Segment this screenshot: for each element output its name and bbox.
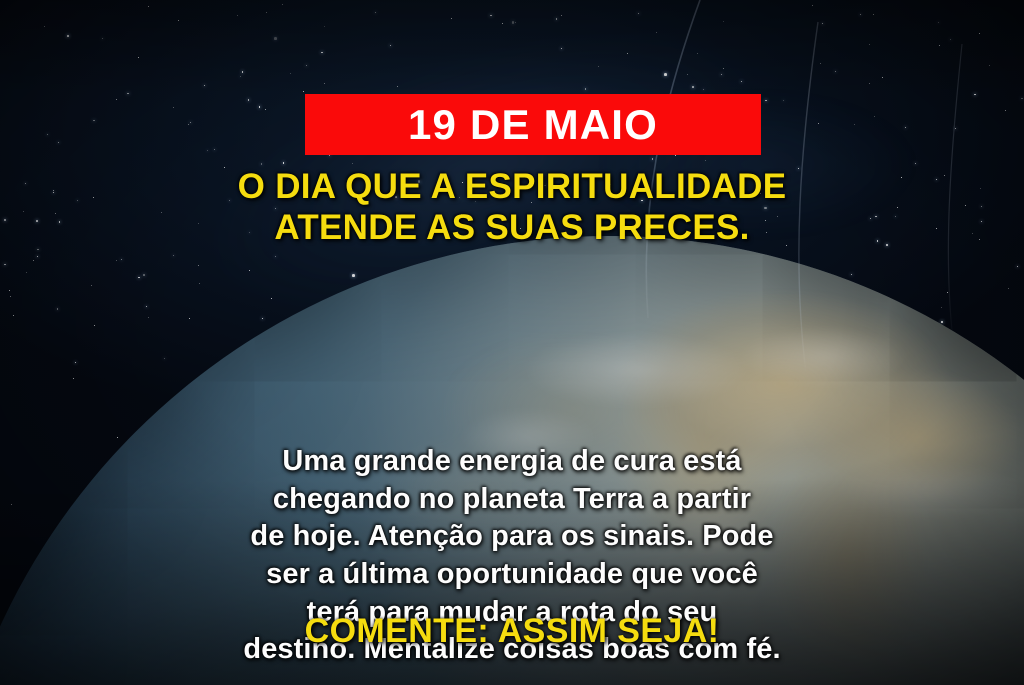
social-media-poster: 19 DE MAIO O DIA QUE A ESPIRITUALIDADE A… (0, 0, 1024, 685)
body-line-3: de hoje. Atenção para os sinais. Pode (0, 518, 1024, 556)
poster-content: 19 DE MAIO O DIA QUE A ESPIRITUALIDADE A… (0, 0, 1024, 685)
body-line-4: ser a última oportunidade que você (0, 556, 1024, 594)
body-line-2: chegando no planeta Terra a partir (0, 481, 1024, 519)
headline-line-1: O DIA QUE A ESPIRITUALIDADE (0, 166, 1024, 207)
headline-line-2: ATENDE AS SUAS PRECES. (0, 207, 1024, 248)
headline: O DIA QUE A ESPIRITUALIDADE ATENDE AS SU… (0, 166, 1024, 249)
call-to-action: COMENTE: ASSIM SEJA! (0, 614, 1024, 648)
date-banner-label: 19 DE MAIO (408, 104, 658, 146)
call-to-action-label: COMENTE: ASSIM SEJA! (305, 612, 720, 650)
date-banner: 19 DE MAIO (305, 94, 761, 155)
body-line-1: Uma grande energia de cura está (0, 443, 1024, 481)
